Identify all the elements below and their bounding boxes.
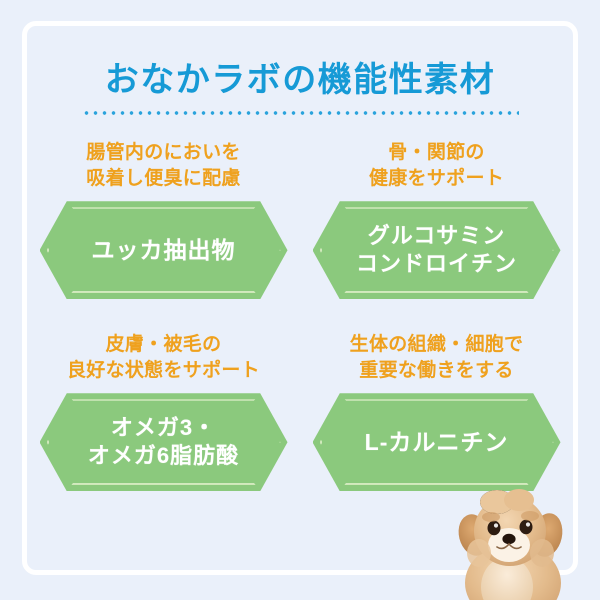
title-block: おなかラボの機能性素材 [0,62,600,115]
feature-grid: 腸管内のにおいを 吸着し便臭に配慮 ユッカ抽出物 骨・関節の 健康をサポート グ… [30,140,570,504]
hex-badge-omega[interactable]: オメガ3・ オメガ6脂肪酸 [40,393,288,491]
feature-cell-yucca: 腸管内のにおいを 吸着し便臭に配慮 ユッカ抽出物 [30,140,297,312]
hex-badge-label: オメガ3・ オメガ6脂肪酸 [88,414,239,470]
puppy-photo [447,483,577,600]
hex-badge-label: L-カルニチン [365,428,509,457]
feature-caption: 腸管内のにおいを 吸着し便臭に配慮 [86,140,240,191]
page-title: おなかラボの機能性素材 [0,62,600,99]
feature-cell-omega: 皮膚・被毛の 良好な状態をサポート オメガ3・ オメガ6脂肪酸 [30,332,297,504]
hex-badge-label: グルコサミン コンドロイチン [356,222,517,278]
hex-badge-label: ユッカ抽出物 [92,236,236,265]
feature-caption: 皮膚・被毛の 良好な状態をサポート [67,332,260,383]
feature-cell-carnitine: 生体の組織・細胞で 重要な働きをする L-カルニチン [303,332,570,504]
feature-caption: 生体の組織・細胞で 重要な働きをする [350,332,524,383]
feature-caption: 骨・関節の 健康をサポート [369,140,504,191]
hex-badge-yucca[interactable]: ユッカ抽出物 [40,201,288,299]
feature-cell-glucosamine: 骨・関節の 健康をサポート グルコサミン コンドロイチン [303,140,570,312]
hex-badge-carnitine[interactable]: L-カルニチン [313,393,561,491]
title-dotted-divider [82,111,519,115]
promo-panel: おなかラボの機能性素材 腸管内のにおいを 吸着し便臭に配慮 ユッカ抽出物 骨・関… [0,0,600,600]
hex-badge-glucosamine[interactable]: グルコサミン コンドロイチン [313,201,561,299]
